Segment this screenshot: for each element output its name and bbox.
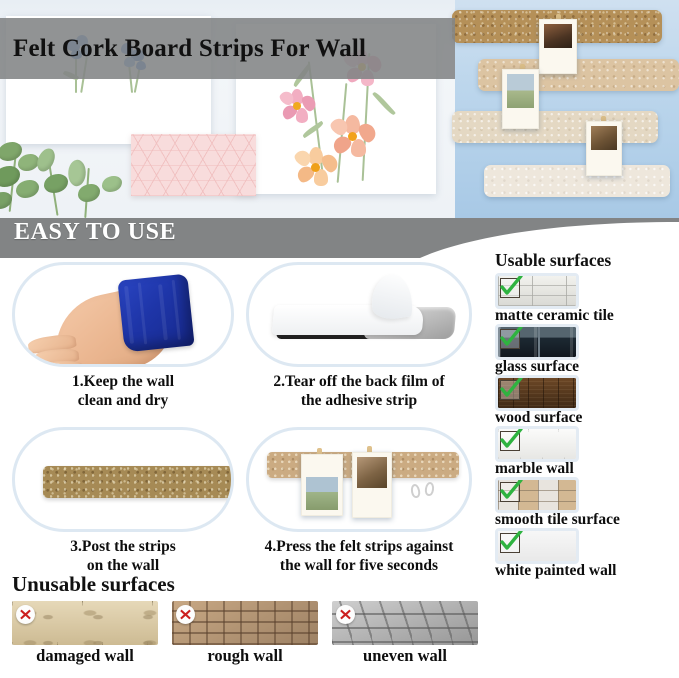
hanging-photo-1: [539, 19, 577, 74]
rough-wall-thumbnail: [172, 601, 318, 645]
check-icon: [500, 533, 520, 553]
check-icon: [500, 380, 520, 400]
hook-icon: [410, 483, 421, 498]
unusable-label: rough wall: [172, 646, 318, 666]
pinned-photo-2: [352, 452, 392, 518]
eucalyptus-plant: [0, 140, 144, 218]
pinned-photo-1: [301, 454, 343, 516]
step-1-line1: 1.Keep the wall: [12, 373, 234, 392]
unusable-item-damaged-wall: damaged wall: [12, 601, 158, 666]
peeling-film-icon: [368, 272, 414, 321]
photo-thumbnail: [306, 477, 338, 510]
usable-label: matte ceramic tile: [495, 307, 675, 325]
step-2: 2.Tear off the back film of the adhesive…: [246, 262, 472, 411]
unusable-surfaces-list: damaged wall rough wall: [12, 601, 482, 666]
x-glyph: [179, 608, 192, 621]
step-2-illustration: [246, 262, 472, 367]
smooth-tile-surface-thumbnail: [498, 480, 576, 510]
unusable-surfaces-title: Unusable surfaces: [12, 572, 482, 597]
page-title: Felt Cork Board Strips For Wall: [0, 35, 366, 63]
unusable-label: uneven wall: [332, 646, 478, 666]
usable-label: marble wall: [495, 460, 675, 478]
step-4: 4.Press the felt strips against the wall…: [246, 427, 472, 576]
check-glyph: [499, 378, 525, 402]
usable-item-glass-surface: glass surface: [495, 327, 675, 376]
x-glyph: [339, 608, 352, 621]
cork-strip-white: [484, 165, 670, 197]
check-icon: [500, 482, 520, 502]
matte-ceramic-tile-thumbnail: [498, 276, 576, 306]
step-1: 1.Keep the wall clean and dry: [12, 262, 234, 411]
unusable-item-uneven-wall: uneven wall: [332, 601, 478, 666]
check-glyph: [499, 327, 525, 351]
wood-surface-thumbnail: [498, 378, 576, 408]
step-2-line2: the adhesive strip: [246, 392, 472, 411]
x-icon: [336, 605, 355, 624]
usable-label: wood surface: [495, 409, 675, 427]
glass-surface-thumbnail: [498, 327, 576, 357]
product-infographic: Felt Cork Board Strips For Wall EASY TO …: [0, 0, 679, 678]
check-icon: [500, 431, 520, 451]
photo-thumbnail: [544, 24, 572, 48]
white-painted-wall-thumbnail: [498, 531, 576, 561]
usable-surfaces-title: Usable surfaces: [495, 250, 675, 271]
hook-icon: [424, 481, 435, 496]
check-glyph: [499, 480, 525, 504]
usable-surfaces-section: Usable surfaces matte ceramic tile: [495, 250, 675, 582]
usable-item-white-painted-wall: white painted wall: [495, 531, 675, 580]
hanging-photo-2: [502, 69, 539, 129]
photo-thumbnail: [591, 126, 617, 150]
cloth-icon: [117, 274, 194, 353]
cork-strip-beige: [452, 111, 658, 143]
unusable-surfaces-section: Unusable surfaces damaged wall: [12, 572, 482, 666]
step-3-illustration: [12, 427, 234, 532]
step-1-label: 1.Keep the wall clean and dry: [12, 373, 234, 411]
step-4-line1: 4.Press the felt strips against: [246, 538, 472, 557]
check-glyph: [499, 429, 525, 453]
banner-label: EASY TO USE: [14, 219, 176, 246]
pink-geometric-box: [131, 134, 256, 196]
check-glyph: [499, 531, 525, 555]
hero-title-bar: Felt Cork Board Strips For Wall: [0, 18, 455, 79]
step-4-label: 4.Press the felt strips against the wall…: [246, 538, 472, 576]
step-4-illustration: [246, 427, 472, 532]
unusable-item-rough-wall: rough wall: [172, 601, 318, 666]
usable-item-matte-ceramic-tile: matte ceramic tile: [495, 276, 675, 325]
check-glyph: [499, 276, 525, 300]
check-icon: [500, 329, 520, 349]
usable-item-marble-wall: marble wall: [495, 429, 675, 478]
damaged-wall-thumbnail: [12, 601, 158, 645]
step-2-line1: 2.Tear off the back film of: [246, 373, 472, 392]
marble-wall-thumbnail: [498, 429, 576, 459]
usable-label: white painted wall: [495, 562, 675, 580]
photo-thumbnail: [357, 457, 387, 488]
step-2-label: 2.Tear off the back film of the adhesive…: [246, 373, 472, 411]
x-icon: [16, 605, 35, 624]
cork-strip-icon: [43, 466, 233, 498]
photo-thumbnail: [507, 74, 534, 108]
check-icon: [500, 278, 520, 298]
uneven-wall-thumbnail: [332, 601, 478, 645]
step-3-line1: 3.Post the strips: [12, 538, 234, 557]
hero-image: Felt Cork Board Strips For Wall: [0, 0, 679, 218]
x-glyph: [19, 608, 32, 621]
hanging-photo-3: [586, 121, 622, 176]
step-1-illustration: [12, 262, 234, 367]
usable-label: glass surface: [495, 358, 675, 376]
x-icon: [176, 605, 195, 624]
usable-item-smooth-tile-surface: smooth tile surface: [495, 480, 675, 529]
usable-label: smooth tile surface: [495, 511, 675, 529]
step-3: 3.Post the strips on the wall: [12, 427, 234, 576]
step-3-label: 3.Post the strips on the wall: [12, 538, 234, 576]
step-1-line2: clean and dry: [12, 392, 234, 411]
usable-item-wood-surface: wood surface: [495, 378, 675, 427]
unusable-label: damaged wall: [12, 646, 158, 666]
